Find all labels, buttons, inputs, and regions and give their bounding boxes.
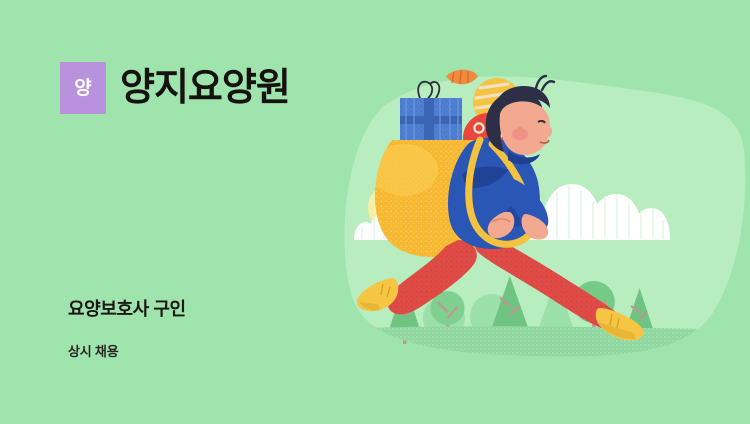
brand-badge-icon: 양 [60, 62, 106, 114]
recruitment-headline: 요양보호사 구인 [68, 295, 186, 321]
ground-strip [340, 326, 750, 370]
brand-lockup: 양 양지요양원 [60, 62, 290, 114]
brand-title: 양지요양원 [120, 69, 290, 107]
recruitment-subline: 상시 채용 [68, 341, 118, 360]
recruitment-banner: 양 양지요양원 요양보호사 구인 상시 채용 [0, 0, 750, 424]
running-delivery-person-illustration [340, 40, 750, 380]
